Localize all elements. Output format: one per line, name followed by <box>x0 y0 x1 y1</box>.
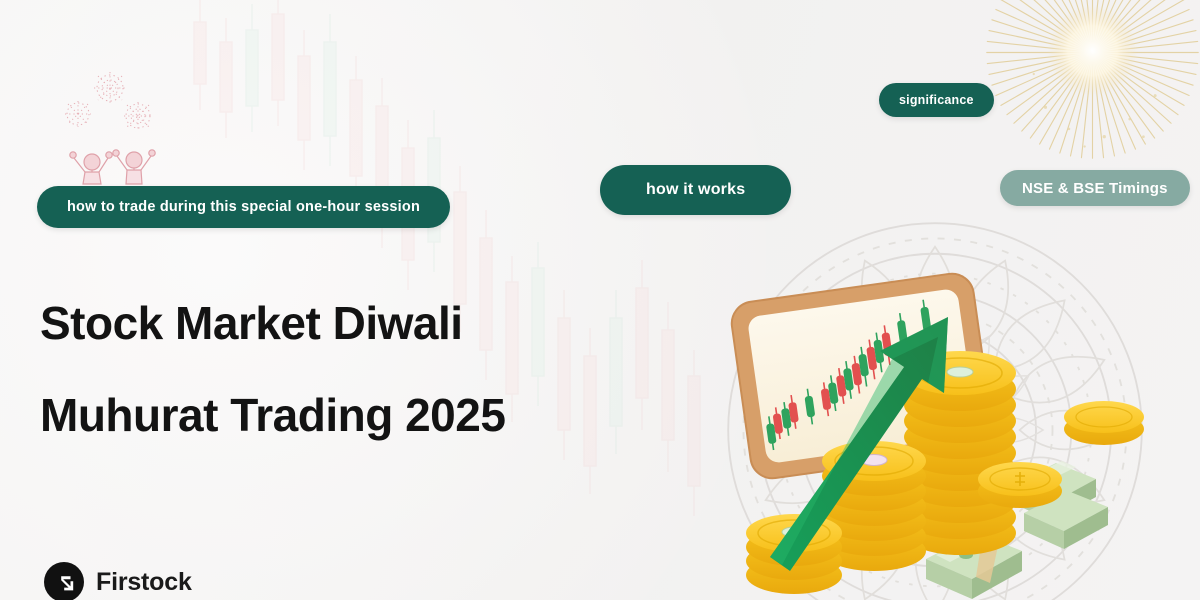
brand-logo[interactable]: Firstock <box>44 562 192 600</box>
trading-growth-3d-illustration <box>712 245 1182 600</box>
page-title: Stock Market Diwali Muhurat Trading 2025 <box>40 300 505 438</box>
firstock-arrow-logo-icon <box>44 562 84 600</box>
hero-banner: how to trade during this special one-hou… <box>0 0 1200 600</box>
candlestick-chart-watermark <box>180 0 740 520</box>
pill-nse-bse-timings[interactable]: NSE & BSE Timings <box>1000 170 1190 206</box>
pill-label: NSE & BSE Timings <box>1022 180 1168 197</box>
headline-line-2: Muhurat Trading 2025 <box>40 392 505 438</box>
pill-how-to-trade[interactable]: how to trade during this special one-hou… <box>37 186 450 228</box>
pill-label: how to trade during this special one-hou… <box>67 199 420 215</box>
brand-name: Firstock <box>96 568 192 597</box>
kids-with-sparklers-illustration <box>52 66 174 200</box>
mandala-rangoli-pattern <box>700 195 1170 600</box>
headline-line-1: Stock Market Diwali <box>40 297 463 349</box>
pill-significance[interactable]: significance <box>879 83 994 117</box>
firework-burst-illustration <box>975 0 1200 170</box>
pill-label: significance <box>899 93 974 107</box>
pill-label: how it works <box>646 181 745 199</box>
pill-how-it-works[interactable]: how it works <box>600 165 791 215</box>
